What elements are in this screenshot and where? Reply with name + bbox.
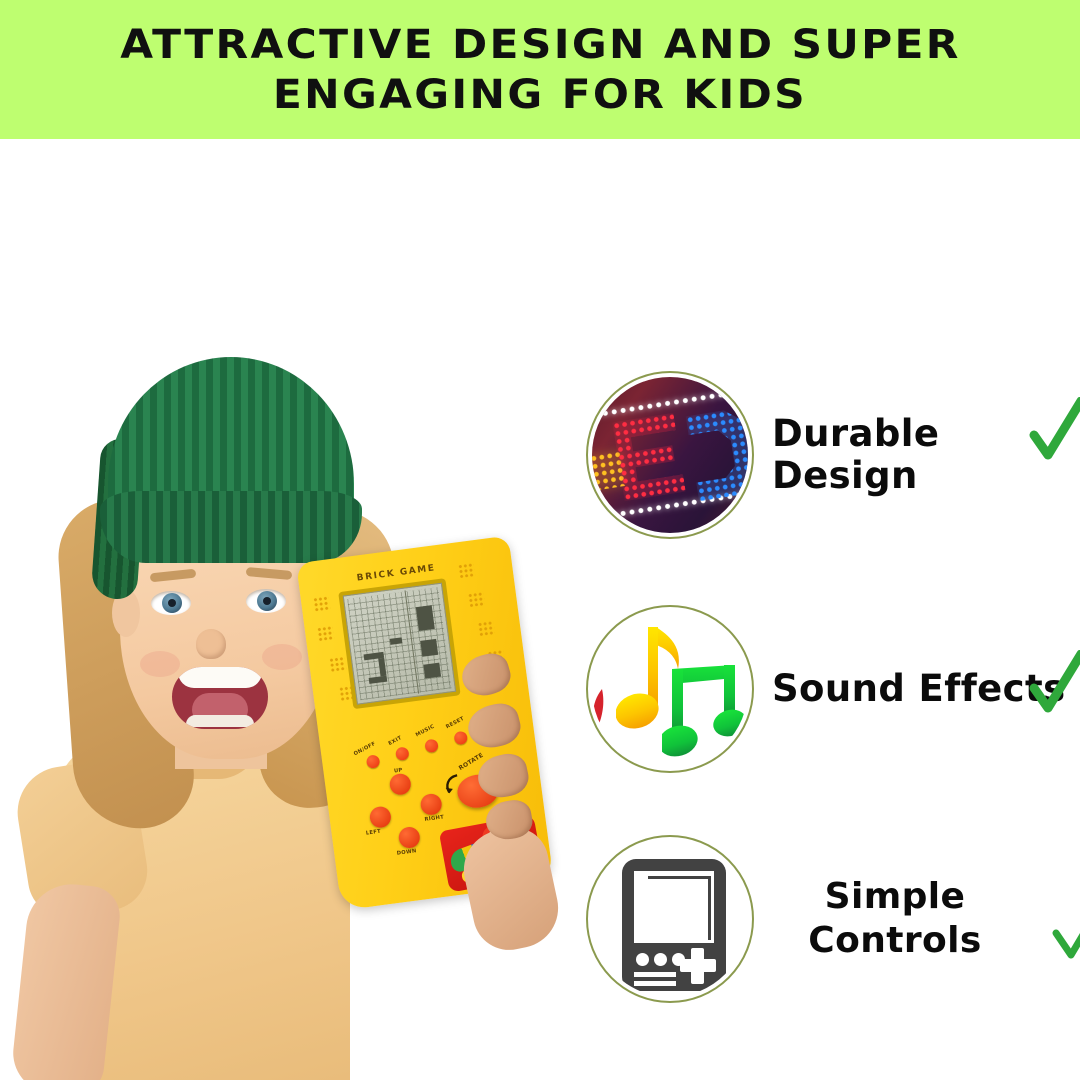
handheld-console-icon	[592, 841, 748, 997]
product-lifestyle-photo: BRICK GAME ON/OFF	[0, 139, 570, 1080]
girl-teeth-lower	[186, 715, 254, 727]
console-screen	[634, 871, 714, 943]
feature-label: Simple Controls	[772, 875, 1080, 963]
feature-item-simple-controls[interactable]: Simple Controls	[570, 829, 1080, 1009]
check-icon-svg	[1050, 897, 1080, 961]
feature-text-wrap: Simple Controls	[772, 875, 1080, 963]
console-dpad-vertical	[691, 948, 704, 984]
girl-arm	[9, 880, 122, 1080]
girl-cheek-right	[262, 644, 302, 670]
device-screen-bezel	[338, 578, 460, 709]
header-banner: ATTRACTIVE DESIGN AND SUPER ENGAGING FOR…	[0, 0, 1080, 139]
lcd-brick	[420, 639, 438, 657]
headline-line-1: ATTRACTIVE DESIGN AND SUPER	[120, 20, 961, 70]
console-button	[636, 953, 649, 966]
music-note-red	[592, 687, 618, 735]
device-deco-pattern	[467, 591, 485, 607]
girl-pupil-right	[263, 597, 271, 605]
console-speaker-bar	[634, 972, 676, 977]
girl-pupil-left	[168, 599, 176, 607]
check-icon	[1028, 650, 1080, 714]
music-note-green	[662, 661, 748, 767]
girl-nose	[196, 629, 226, 659]
device-deco-pattern	[477, 620, 495, 636]
feature-text-wrap: Sound Effects	[772, 668, 1080, 710]
console-button	[654, 953, 667, 966]
beanie-brim	[100, 491, 362, 563]
music-notes-icon	[592, 611, 748, 767]
check-icon-svg	[1028, 650, 1080, 714]
feature-icon-circle	[586, 605, 754, 773]
console-speaker-bar	[634, 981, 676, 986]
check-icon	[1028, 397, 1080, 461]
girl-iris-left	[162, 593, 182, 613]
device-deco-pattern	[458, 562, 476, 578]
device-deco-pattern	[313, 596, 331, 612]
console-body	[622, 859, 726, 991]
girl-cheek-left	[140, 651, 180, 677]
feature-item-sound-effects[interactable]: Sound Effects	[570, 599, 1080, 779]
headline-line-2: ENGAGING FOR KIDS	[273, 70, 807, 120]
device-deco-pattern	[317, 625, 335, 641]
girl-iris-right	[257, 591, 277, 611]
device-deco-pattern	[329, 656, 347, 672]
girl-teeth-upper	[178, 667, 262, 688]
check-icon-svg	[1028, 397, 1080, 461]
device-lcd-screen	[343, 583, 457, 705]
feature-item-durable-design[interactable]: Durable Design	[570, 365, 1080, 545]
feature-list: Durable Design	[570, 139, 1080, 1080]
lcd-brick	[423, 663, 441, 679]
girl-eye-left	[151, 591, 191, 615]
lcd-brick	[416, 605, 435, 631]
led-sign-icon	[592, 377, 748, 533]
device-dpad-label-up: UP	[394, 767, 403, 774]
check-icon	[1050, 897, 1080, 961]
feature-icon-circle	[586, 371, 754, 539]
girl-eye-right	[246, 589, 286, 613]
feature-text-wrap: Durable Design	[772, 413, 1080, 497]
rotate-arrow-icon	[441, 772, 464, 796]
girl-mouth	[172, 667, 268, 729]
feature-icon-circle	[586, 835, 754, 1003]
